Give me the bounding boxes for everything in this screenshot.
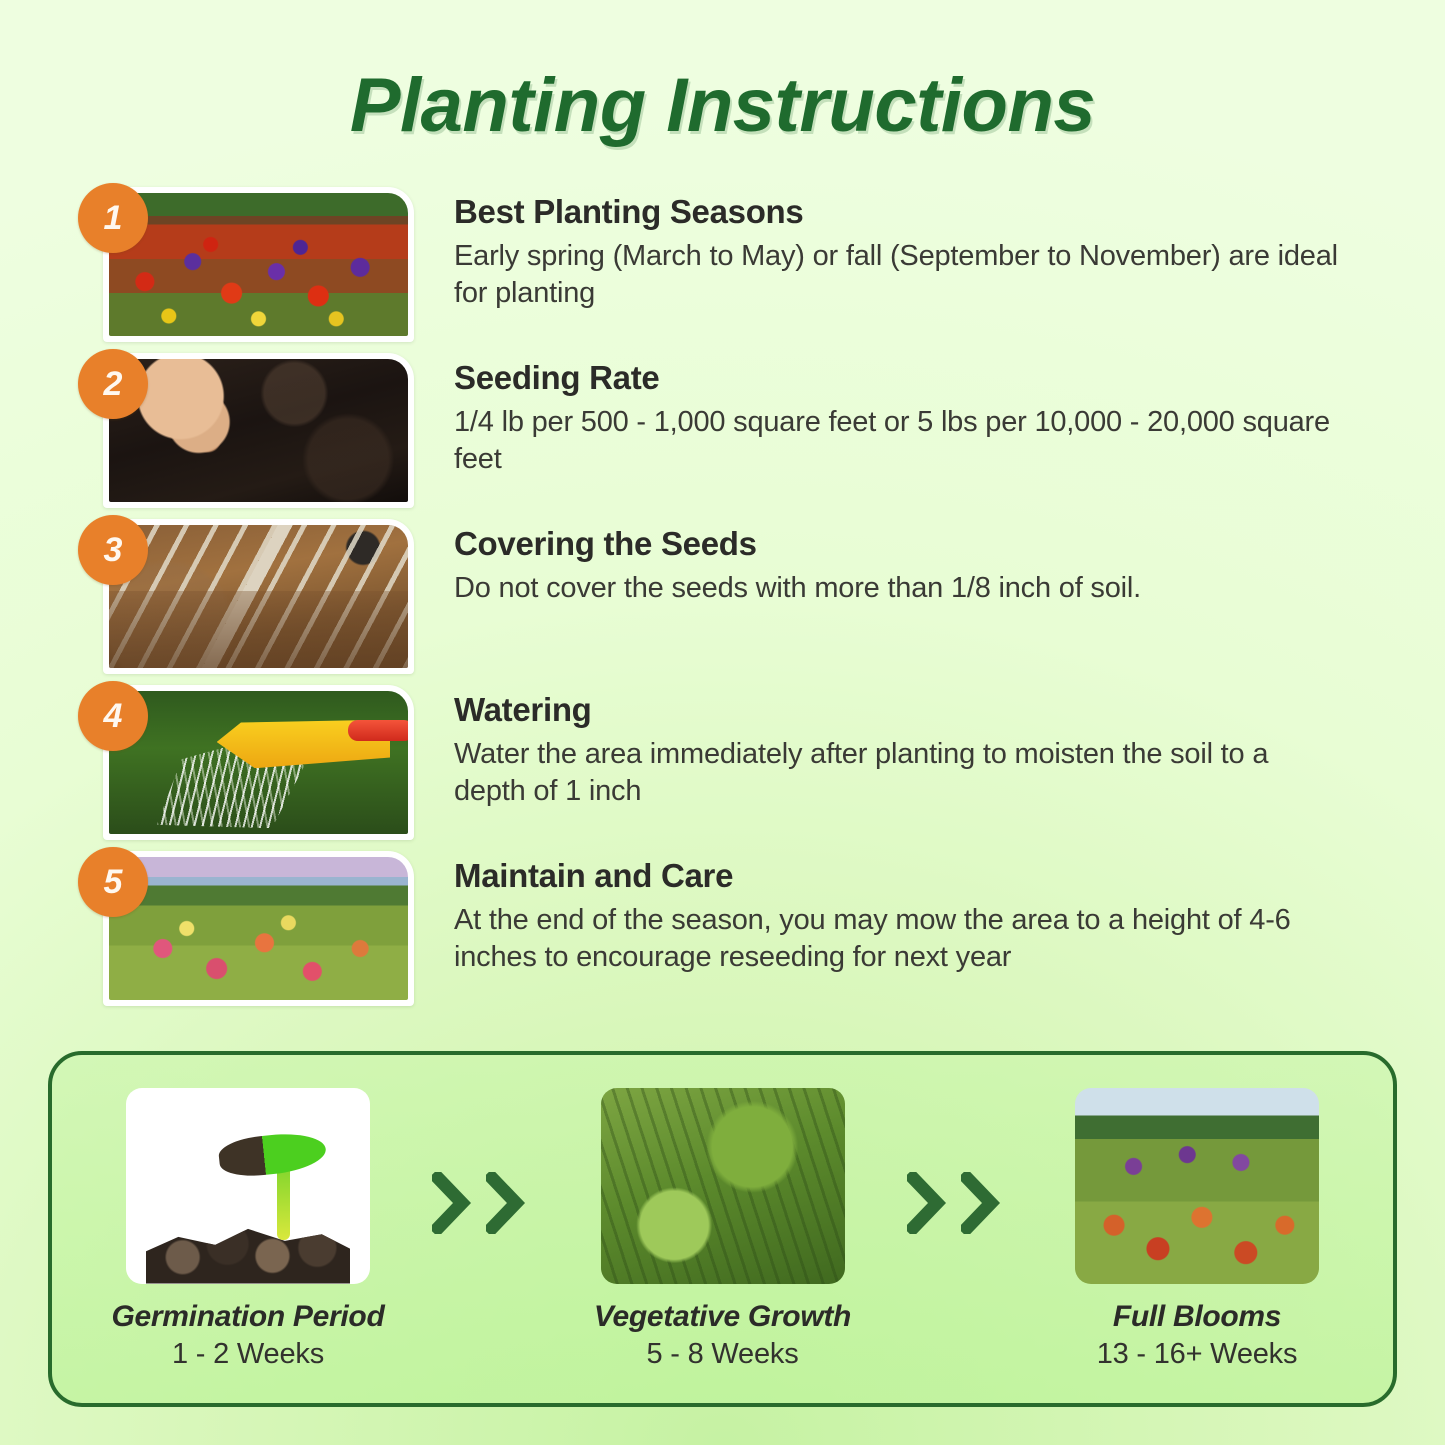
step-description-2: 1/4 lb per 500 - 1,000 square feet or 5 … (454, 404, 1346, 478)
timeline-stage-label-full-blooms: Full Blooms (1047, 1300, 1347, 1334)
step-item-3: 3 Covering the Seeds Do not cover the se… (78, 515, 1445, 681)
timeline-stage-label-vegetative: Vegetative Growth (573, 1300, 873, 1334)
seedling-sprout-photo (126, 1088, 370, 1284)
step-description-4: Water the area immediately after plantin… (454, 736, 1346, 810)
green-foliage-photo (601, 1088, 845, 1284)
timeline-stage-label-germination: Germination Period (98, 1300, 398, 1334)
steps-list: 1 Best Planting Seasons Early spring (Ma… (0, 183, 1445, 1013)
dark-soil-artwork (109, 359, 408, 502)
step-thumbnail-slot-2: 2 (78, 349, 416, 509)
blooming-field-photo (109, 857, 408, 1000)
wildflower-meadow-photo (109, 193, 408, 336)
step-thumbnail-frame-3 (103, 519, 414, 674)
step-description-1: Early spring (March to May) or fall (Sep… (454, 238, 1346, 312)
foliage-artwork (109, 691, 408, 834)
step-title-5: Maintain and Care (454, 857, 1346, 895)
step-item-2: 2 Seeding Rate 1/4 lb per 500 - 1,000 sq… (78, 349, 1445, 515)
step-description-5: At the end of the season, you may mow th… (454, 902, 1346, 976)
timeline-stage-value-germination: 1 - 2 Weeks (98, 1338, 398, 1371)
step-item-5: 5 Maintain and Care At the end of the se… (78, 847, 1445, 1013)
step-thumbnail-slot-4: 4 (78, 681, 416, 841)
meadow-artwork (109, 193, 408, 336)
timeline-stage-germination: Germination Period 1 - 2 Weeks (98, 1088, 398, 1371)
step-title-2: Seeding Rate (454, 359, 1346, 397)
pastel-meadow-artwork (109, 857, 408, 1000)
watering-can-photo (109, 691, 408, 834)
wildflower-bloom-field-photo (1075, 1088, 1319, 1284)
timeline-stage-value-vegetative: 5 - 8 Weeks (573, 1338, 873, 1371)
step-thumbnail-frame-1 (103, 187, 414, 342)
step-thumbnail-frame-4 (103, 685, 414, 840)
title-section: Planting Instructions (0, 0, 1445, 149)
step-title-1: Best Planting Seasons (454, 193, 1346, 231)
step-thumbnail-slot-3: 3 (78, 515, 416, 675)
step-thumbnail-slot-1: 1 (78, 183, 416, 343)
planting-instructions-poster: Planting Instructions 1 Best Planting Se… (0, 0, 1445, 1445)
step-thumbnail-frame-5 (103, 851, 414, 1006)
double-chevron-right-icon (432, 1172, 538, 1234)
step-text-1: Best Planting Seasons Early spring (Marc… (416, 183, 1346, 312)
step-item-1: 1 Best Planting Seasons Early spring (Ma… (78, 183, 1445, 349)
step-text-3: Covering the Seeds Do not cover the seed… (416, 515, 1141, 607)
growth-timeline-card: Germination Period 1 - 2 Weeks Vegetativ… (48, 1051, 1397, 1407)
timeline-stage-vegetative: Vegetative Growth 5 - 8 Weeks (573, 1088, 873, 1371)
step-text-5: Maintain and Care At the end of the seas… (416, 847, 1346, 976)
hand-sowing-seeds-photo (109, 359, 408, 502)
step-badge-4: 4 (78, 681, 148, 751)
step-badge-3: 3 (78, 515, 148, 585)
step-title-4: Watering (454, 691, 1346, 729)
step-thumbnail-slot-5: 5 (78, 847, 416, 1007)
step-title-3: Covering the Seeds (454, 525, 1141, 563)
timeline-stage-full-blooms: Full Blooms 13 - 16+ Weeks (1047, 1088, 1347, 1371)
soil-artwork (146, 1217, 351, 1284)
sprout-head-artwork (217, 1129, 328, 1179)
step-text-4: Watering Water the area immediately afte… (416, 681, 1346, 810)
step-text-2: Seeding Rate 1/4 lb per 500 - 1,000 squa… (416, 349, 1346, 478)
rake-artwork (109, 525, 408, 668)
watering-can-handle-artwork (348, 720, 408, 741)
rake-in-soil-photo (109, 525, 408, 668)
step-thumbnail-frame-2 (103, 353, 414, 508)
double-chevron-right-icon-2 (907, 1172, 1013, 1234)
step-item-4: 4 Watering Water the area immediately af… (78, 681, 1445, 847)
timeline-stage-value-full-blooms: 13 - 16+ Weeks (1047, 1338, 1347, 1371)
step-badge-5: 5 (78, 847, 148, 917)
step-badge-2: 2 (78, 349, 148, 419)
step-badge-1: 1 (78, 183, 148, 253)
step-description-3: Do not cover the seeds with more than 1/… (454, 570, 1141, 607)
page-title: Planting Instructions (0, 62, 1445, 149)
